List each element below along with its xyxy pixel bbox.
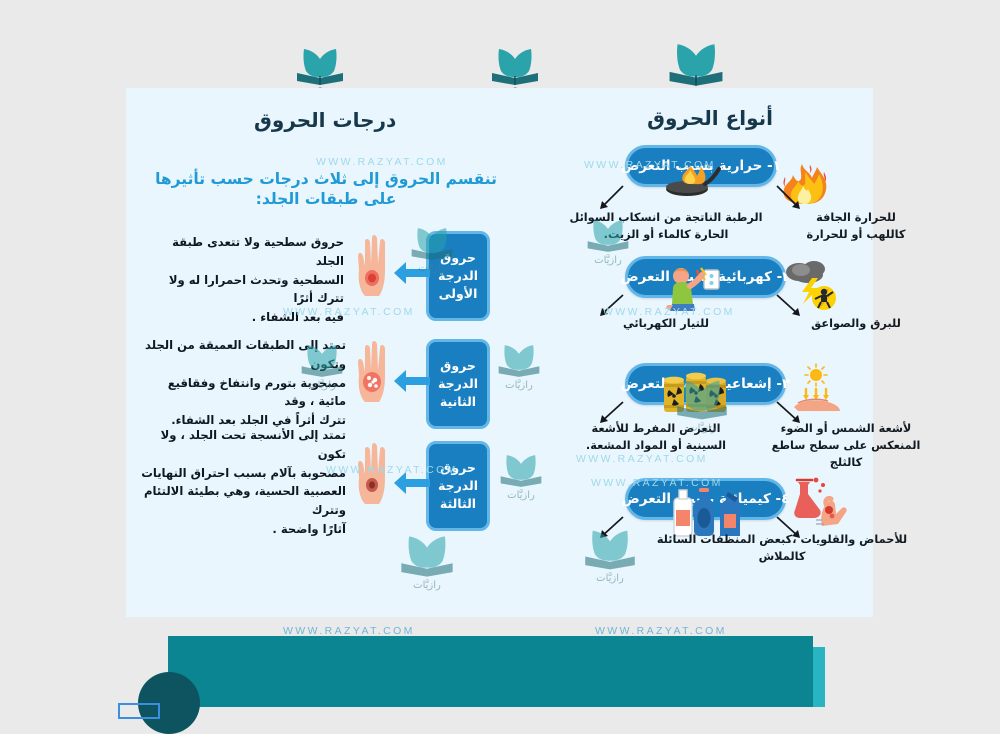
degree-description-third: تمتد إلى الأنسجة تحت الجلد ، ولا تكونمصح… bbox=[140, 426, 346, 539]
watermark-url: WWW.RAZYAT.COM bbox=[316, 156, 448, 168]
infographic-canvas: أنواع الحروق ١- حرارية بسبب التعرض للحرا… bbox=[126, 88, 873, 617]
watermark-logo: رازيَّات bbox=[671, 378, 733, 434]
watermark-url: WWW.RAZYAT.COM bbox=[283, 306, 415, 318]
watermark-logo: رازيَّات bbox=[488, 343, 550, 391]
arrow-radiation-left bbox=[591, 400, 627, 428]
hand-burn-first-degree-icon bbox=[354, 230, 396, 302]
watermark-brand-name: رازيَّات bbox=[671, 423, 733, 434]
arrow-chemical-right bbox=[773, 515, 809, 543]
watermark-logo: رازيَّات bbox=[577, 218, 639, 266]
thermal-caption-dry: للحرارة الجافةكاللهب أو للحرارة bbox=[786, 210, 926, 244]
open-book-icon bbox=[398, 534, 456, 579]
open-book-icon bbox=[409, 226, 455, 262]
watermark-brand-name: رازيَّات bbox=[488, 380, 550, 391]
watermark-brand-name: رازيَّات bbox=[291, 380, 353, 391]
open-book-icon bbox=[498, 453, 544, 489]
open-book-icon bbox=[585, 218, 631, 254]
arrow-thermal-left bbox=[591, 184, 627, 214]
bottom-blue-outline-shape bbox=[118, 703, 160, 719]
types-section-title: أنواع الحروق bbox=[647, 106, 773, 130]
watermark-url: WWW.RAZYAT.COM bbox=[326, 464, 458, 476]
degree-card-third[interactable]: حروقالدرجةالثالثة bbox=[426, 441, 490, 531]
open-book-icon bbox=[666, 42, 726, 88]
watermark-brand-name: رازيَّات bbox=[579, 573, 641, 584]
open-book-icon bbox=[496, 343, 542, 379]
watermark-brand-name: رازيَّات bbox=[396, 580, 458, 591]
open-book-icon bbox=[294, 47, 346, 87]
watermark-brand-name: رازيَّات bbox=[577, 255, 639, 266]
watermark-url: WWW.RAZYAT.COM bbox=[595, 625, 727, 637]
open-book-icon bbox=[674, 378, 730, 422]
watermark-logo: رازيَّات bbox=[579, 528, 641, 584]
open-book-icon bbox=[489, 47, 541, 87]
arrow-electrical-right bbox=[773, 293, 809, 321]
watermark-url: WWW.RAZYAT.COM bbox=[591, 477, 723, 489]
watermark-logo: رازيَّات bbox=[396, 534, 458, 591]
arrow-degree-second bbox=[392, 368, 432, 394]
watermark-url: WWW.RAZYAT.COM bbox=[283, 625, 415, 637]
degree-card-second[interactable]: حروقالدرجةالثانية bbox=[426, 339, 490, 429]
watermark-url: WWW.RAZYAT.COM bbox=[584, 159, 716, 171]
watermark-brand-name: رازيَّات bbox=[490, 490, 552, 501]
bottom-teal-accent bbox=[813, 647, 825, 707]
bottom-teal-bar bbox=[168, 636, 813, 707]
degrees-subtitle: تنقسم الحروق إلى ثلاث درجات حسب تأثيرهاع… bbox=[151, 170, 501, 210]
open-book-icon bbox=[299, 343, 345, 379]
watermark-logo: رازيَّات bbox=[490, 453, 552, 501]
watermark-logo: رازيَّات bbox=[401, 226, 463, 274]
watermark-url: WWW.RAZYAT.COM bbox=[603, 306, 735, 318]
degrees-section-title: درجات الحروق bbox=[254, 108, 396, 132]
open-book-icon bbox=[582, 528, 638, 572]
watermark-url: WWW.RAZYAT.COM bbox=[576, 453, 708, 465]
arrow-radiation-right bbox=[773, 400, 809, 428]
watermark-logo: رازيَّات bbox=[291, 343, 353, 391]
watermark-brand-name: رازيَّات bbox=[401, 263, 463, 274]
hand-burn-second-degree-icon bbox=[354, 336, 396, 408]
radiation-caption-sun: لأشعة الشمس أو الضوءالمنعكس على سطح ساطع… bbox=[756, 421, 936, 472]
arrow-thermal-right bbox=[773, 184, 809, 214]
